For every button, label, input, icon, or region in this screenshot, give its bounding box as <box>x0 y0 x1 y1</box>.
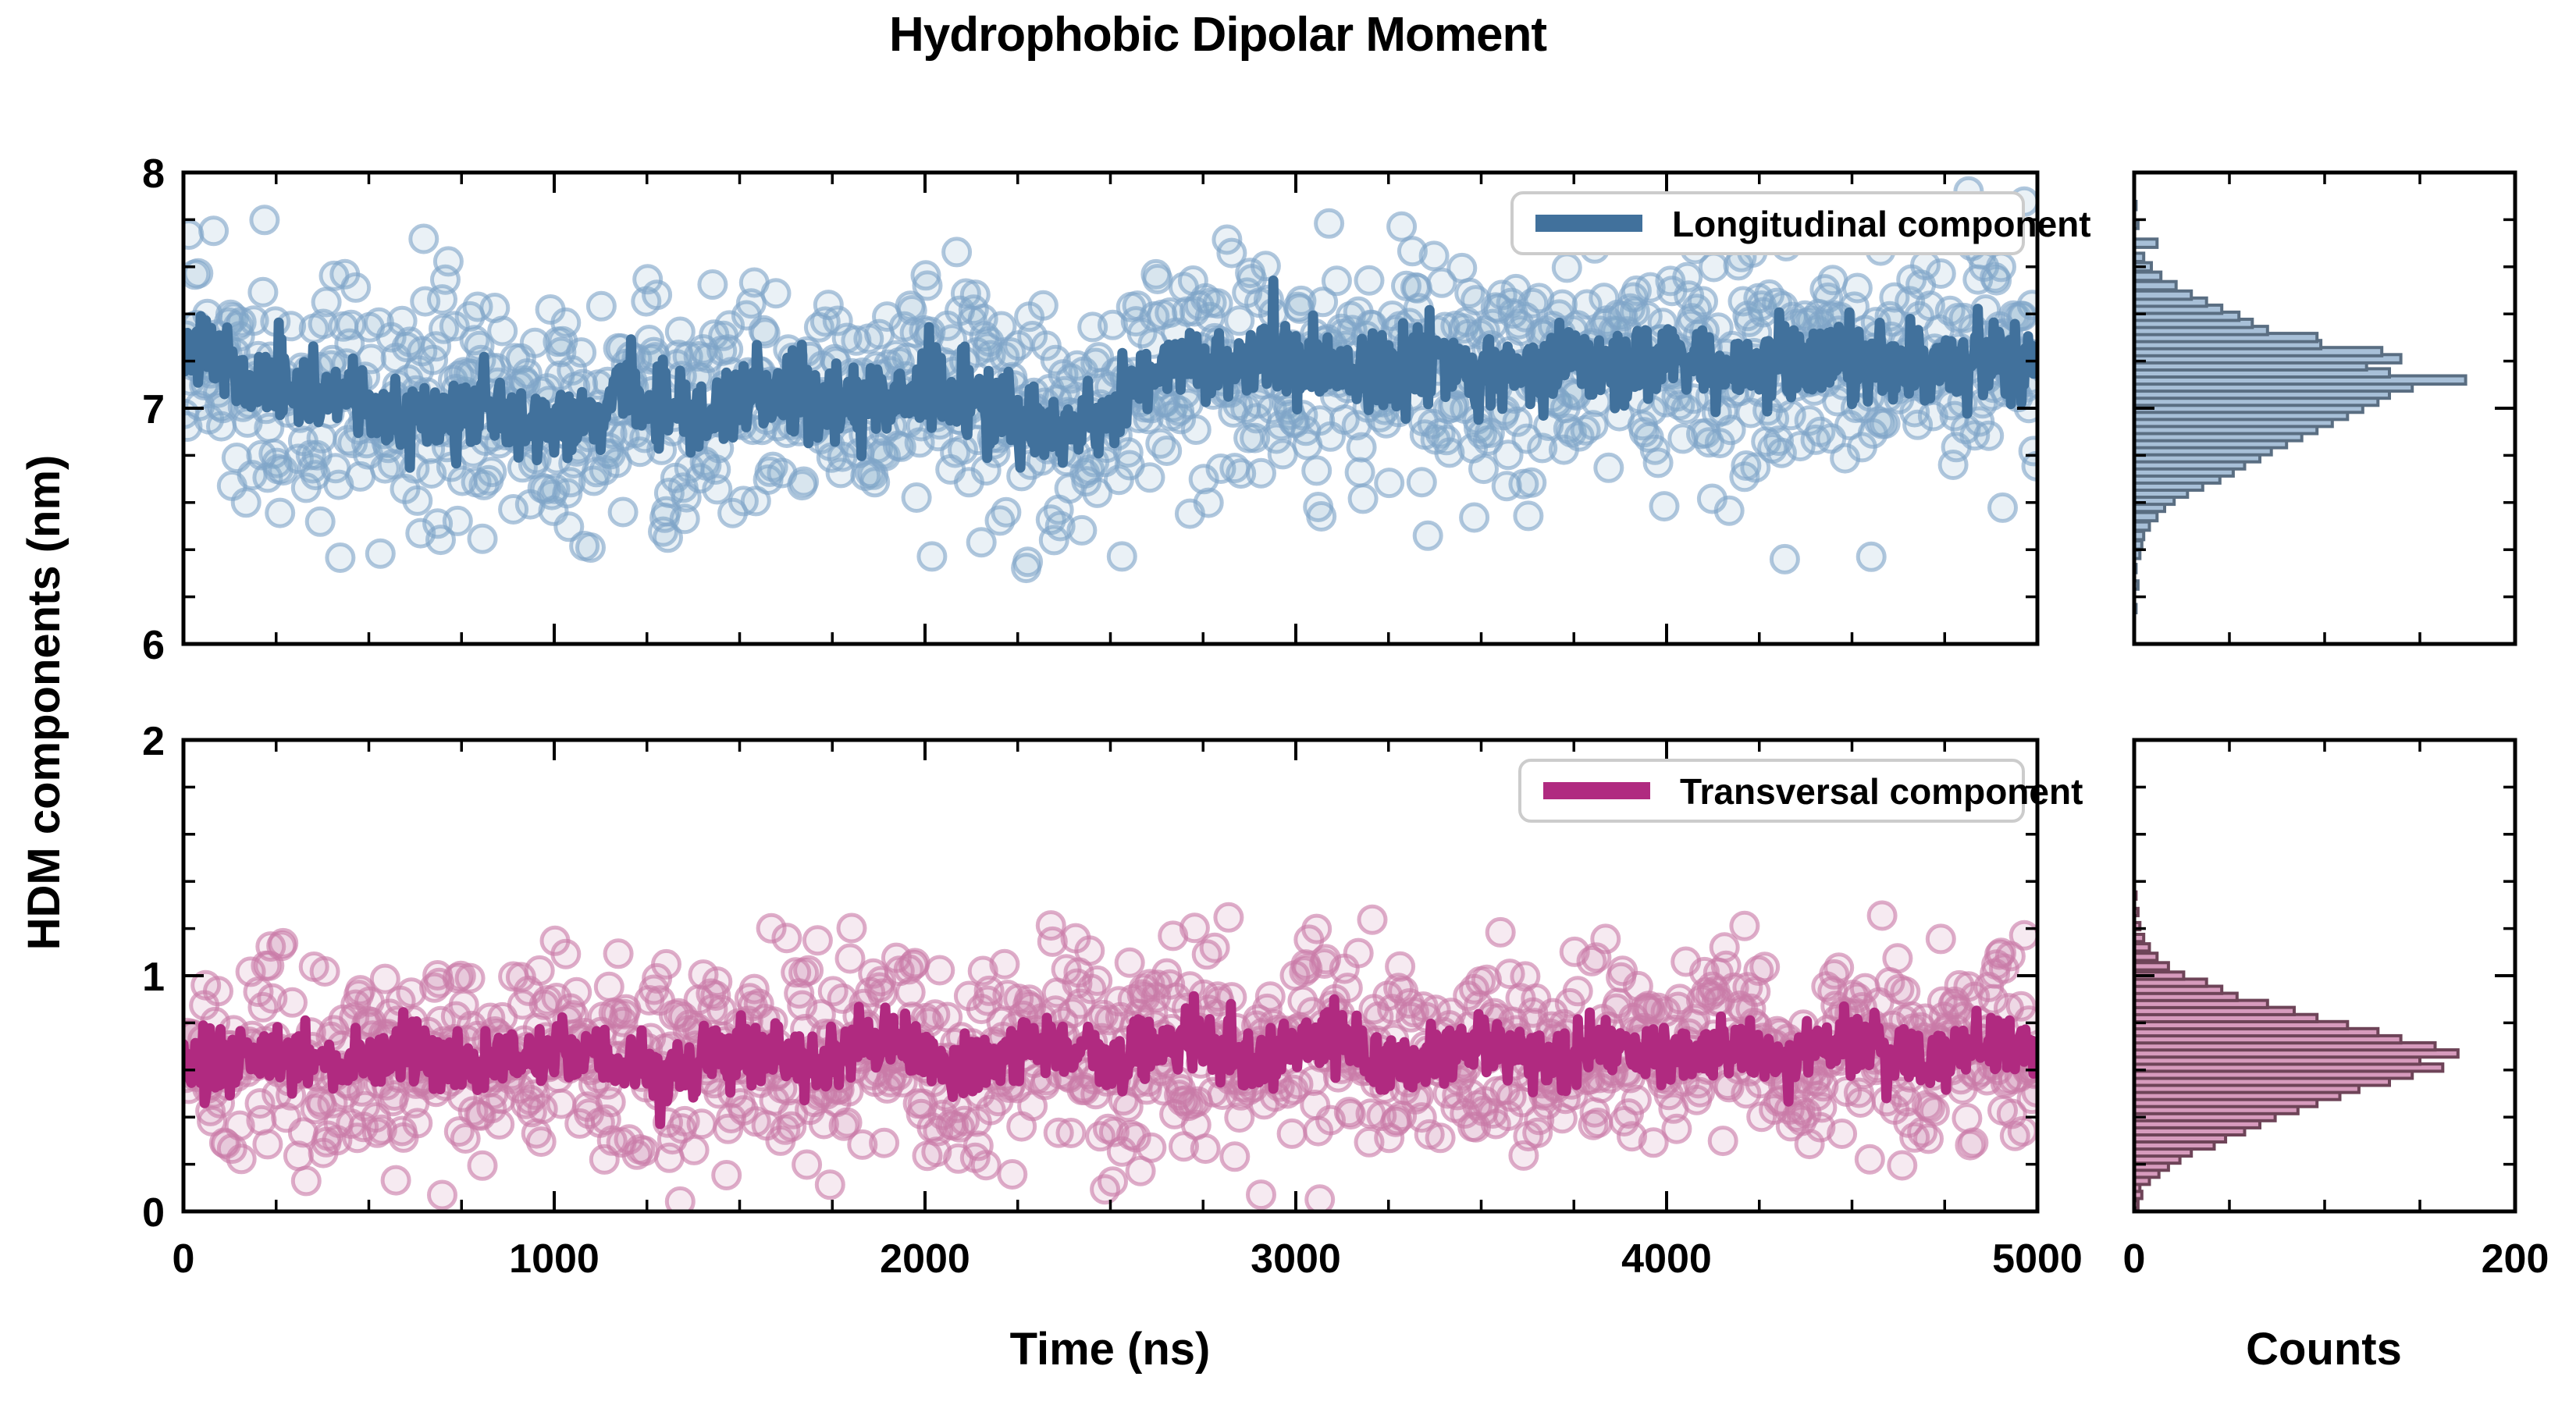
chart-title: Hydrophobic Dipolar Moment <box>889 8 1546 62</box>
x-tick-label: 5000 <box>1992 1236 2083 1282</box>
legend-label: Longitudinal component <box>1672 204 2091 244</box>
legend-transversal[interactable]: Transversal component <box>1520 760 2083 821</box>
x-tick-label: 4000 <box>1621 1236 1712 1282</box>
x-tick-label: 1000 <box>509 1236 600 1282</box>
legend-line-swatch <box>1543 782 1650 799</box>
y-tick-label: 0 <box>142 1190 165 1236</box>
histogram-x-axis-label: Counts <box>2246 1324 2402 1375</box>
legend-label: Transversal component <box>1680 771 2083 812</box>
legend-longitudinal[interactable]: Longitudinal component <box>1512 193 2091 254</box>
figure-canvas: Hydrophobic Dipolar Moment 678 012010002… <box>0 0 2576 1405</box>
figure-background <box>0 0 2576 1405</box>
y-axis-label: HDM components (nm) <box>19 455 69 951</box>
chart-root: Hydrophobic Dipolar Moment 678 012010002… <box>0 0 2576 1405</box>
legend-line-swatch <box>1535 215 1642 232</box>
histogram-x-tick-label: 0 <box>2123 1236 2146 1282</box>
x-tick-label: 0 <box>173 1236 195 1282</box>
x-axis-label: Time (ns) <box>1010 1324 1211 1375</box>
x-tick-label: 2000 <box>880 1236 970 1282</box>
y-tick-label: 1 <box>142 955 165 1000</box>
y-tick-label: 2 <box>142 719 165 764</box>
y-tick-label: 8 <box>142 151 165 197</box>
y-tick-label: 6 <box>142 623 165 668</box>
x-tick-label: 3000 <box>1251 1236 1341 1282</box>
histogram-x-tick-label: 200 <box>2482 1236 2549 1282</box>
y-tick-label: 7 <box>142 387 165 432</box>
